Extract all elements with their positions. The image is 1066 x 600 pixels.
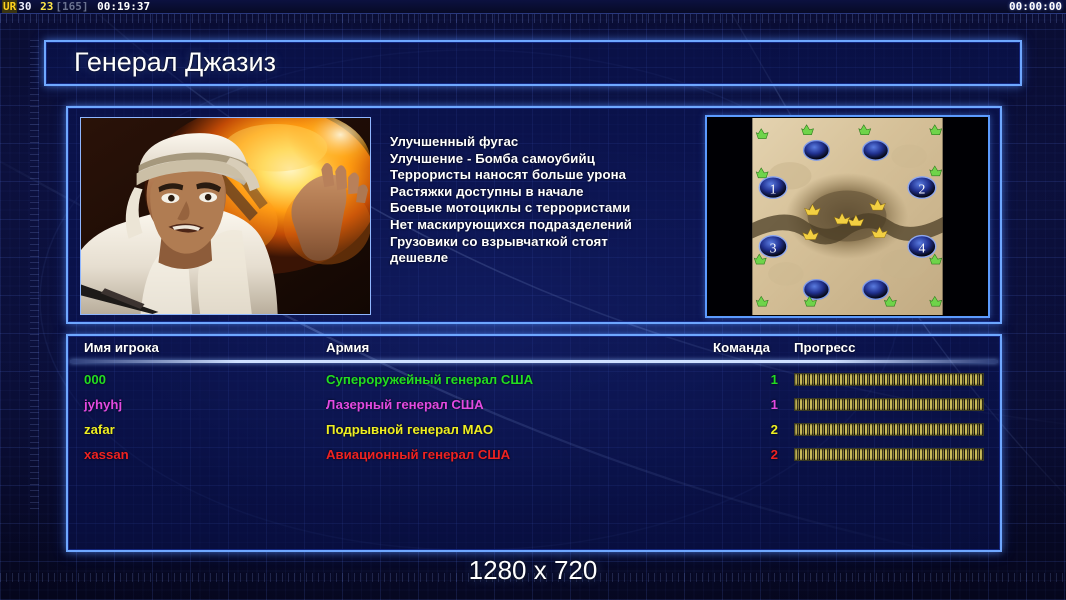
player-army: Авиационный генерал США [326, 443, 510, 467]
stat-clock: 00:19:37 [96, 0, 151, 13]
description-line: Улучшение - Бомба самоубийц [390, 151, 690, 168]
player-name: jyhyhj [84, 393, 122, 417]
map-start-2: 2 [918, 181, 925, 196]
player-team: 2 [740, 443, 778, 467]
top-status-bar: UR30 23[165] 00:19:37 00:00:00 [0, 0, 1066, 14]
table-row[interactable]: xassan Авиационный генерал США 2 [68, 443, 1000, 467]
header-progress: Прогресс [794, 340, 855, 355]
description-line: дешевле [390, 250, 690, 267]
stat-ur-label: UR [2, 0, 17, 13]
player-name: zafar [84, 418, 115, 442]
map-start-4: 4 [918, 240, 925, 255]
header-divider [70, 360, 998, 363]
header-army: Армия [326, 340, 369, 355]
player-team: 1 [740, 393, 778, 417]
ruler-left [30, 40, 39, 510]
description-line: Нет маскирующихся подразделений [390, 217, 690, 234]
table-row[interactable]: zafar Подрывной генерал МАО 2 [68, 418, 1000, 442]
player-team: 1 [740, 368, 778, 392]
player-army: Лазерный генерал США [326, 393, 484, 417]
player-army: Супероружейный генерал США [326, 368, 533, 392]
stat-fps: 30 [17, 0, 32, 13]
game-timer: 00:00:00 [1009, 0, 1062, 14]
header-player-name: Имя игрока [84, 340, 159, 355]
resolution-label: 1280 x 720 [0, 555, 1066, 586]
description-line: Боевые мотоциклы с террористами [390, 200, 690, 217]
player-progress-bar [794, 423, 984, 436]
description-line: Грузовики со взрывчаткой стоят [390, 234, 690, 251]
title-panel: Генерал Джазиз [44, 40, 1022, 86]
map-preview[interactable]: 1 2 3 4 [705, 115, 990, 318]
players-panel: Имя игрока Армия Команда Прогресс 000 Су… [66, 334, 1002, 552]
player-name: xassan [84, 443, 129, 467]
table-row[interactable]: 000 Супероружейный генерал США 1 [68, 368, 1000, 392]
player-name: 000 [84, 368, 106, 392]
general-info-panel: Улучшенный фугас Улучшение - Бомба самоу… [66, 106, 1002, 324]
stat-secondary: 23 [39, 0, 54, 13]
ruler-top [0, 14, 1066, 23]
player-progress-bar [794, 448, 984, 461]
map-start-1: 1 [770, 181, 777, 196]
game-screen: UR30 23[165] 00:19:37 00:00:00 Генерал Д… [0, 0, 1066, 600]
player-progress-bar [794, 398, 984, 411]
description-line: Растяжки доступны в начале [390, 184, 690, 201]
general-description: Улучшенный фугас Улучшение - Бомба самоу… [390, 134, 690, 267]
table-row[interactable]: jyhyhj Лазерный генерал США 1 [68, 393, 1000, 417]
header-team: Команда [713, 340, 770, 355]
stat-bracket: [165] [54, 0, 89, 13]
player-team: 2 [740, 418, 778, 442]
map-start-3: 3 [770, 240, 777, 255]
player-army: Подрывной генерал МАО [326, 418, 493, 442]
general-portrait [80, 117, 371, 315]
description-line: Улучшенный фугас [390, 134, 690, 151]
players-table-header: Имя игрока Армия Команда Прогресс [68, 340, 1000, 362]
performance-stats: UR30 23[165] 00:19:37 [2, 0, 151, 14]
description-line: Террористы наносят больше урона [390, 167, 690, 184]
player-progress-bar [794, 373, 984, 386]
page-title: Генерал Джазиз [74, 47, 276, 78]
